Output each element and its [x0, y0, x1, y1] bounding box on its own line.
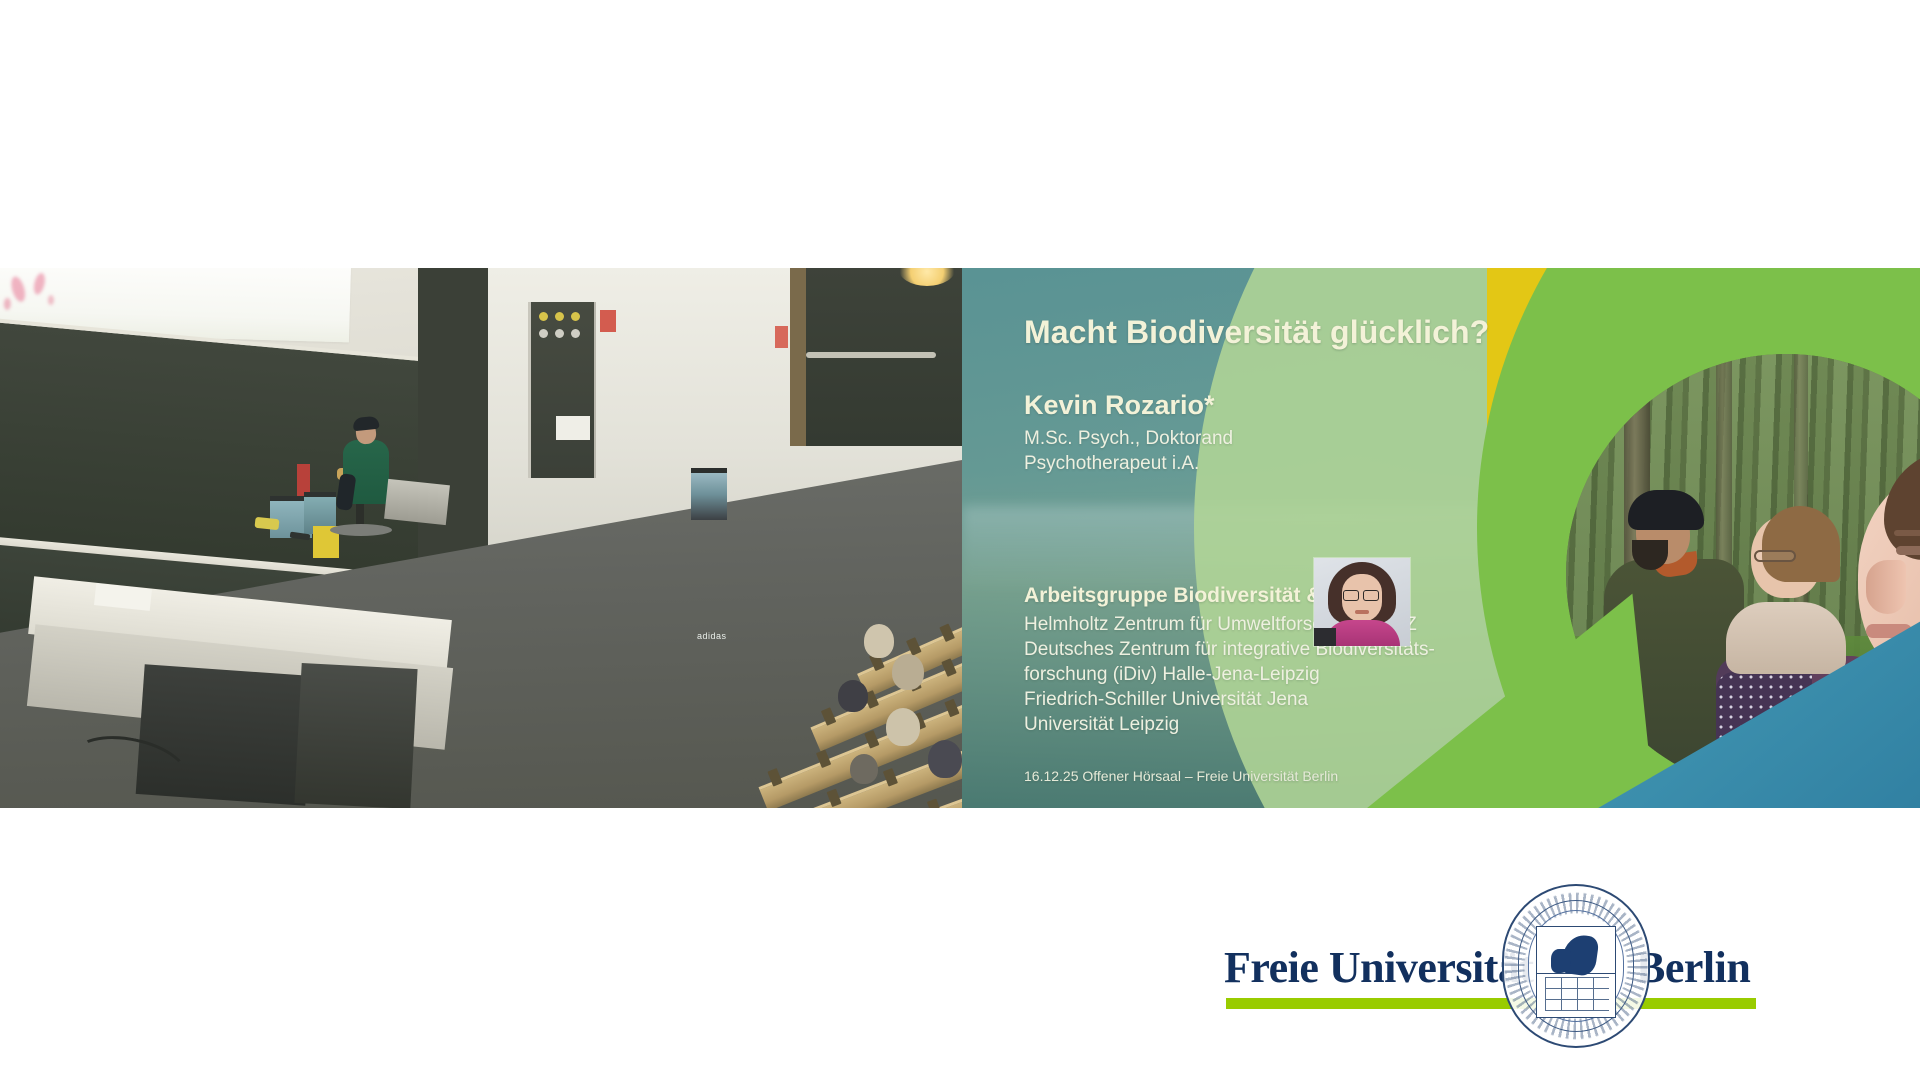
seal-shield [1536, 926, 1616, 1018]
screen-content-blob [48, 295, 54, 305]
presentation-slide[interactable]: Macht Biodiversität glücklich? Kevin Roz… [962, 268, 1920, 808]
desk-sponge [254, 517, 279, 530]
audience-member [864, 624, 894, 658]
slide-title: Macht Biodiversität glücklich? [1024, 314, 1489, 351]
co-author-portrait [1314, 558, 1410, 646]
affiliation-line: forschung (iDiv) Halle-Jena-Leipzig [1024, 662, 1444, 687]
door-notice-sign [556, 416, 590, 440]
speaker-role-line-2: Psychotherapeut i.A. [1024, 451, 1233, 476]
portrait-shoulder [1314, 628, 1336, 646]
logo-accent-bar [1226, 998, 1756, 1009]
seal-shield-pattern [1545, 977, 1609, 1011]
emergency-sign [775, 326, 788, 348]
logo-word-berlin: Berlin [1636, 942, 1750, 993]
audience-member [886, 708, 920, 746]
speaker-role: M.Sc. Psych., Doktorand Psychotherapeut … [1024, 426, 1233, 476]
slide-text-layer: Macht Biodiversität glücklich? Kevin Roz… [962, 268, 1920, 808]
seal-shield-upper [1537, 927, 1615, 974]
waste-bin [691, 468, 727, 520]
lecture-hall-video[interactable]: adidas [0, 268, 962, 808]
speaker-role-line-1: M.Sc. Psych., Doktorand [1024, 426, 1233, 451]
affiliation-line: Friedrich-Schiller Universität Jena [1024, 687, 1444, 712]
slide-footer-date: 16.12.25 Offener Hörsaal – Freie Univers… [1024, 768, 1338, 784]
audience-member [838, 680, 868, 712]
audience-member [850, 754, 878, 784]
seat-row [648, 797, 962, 808]
screen-content-blob [32, 272, 47, 296]
portrait-glasses-right [1363, 590, 1379, 601]
screen-content-blob [9, 275, 28, 303]
door-push-bar [806, 352, 936, 358]
av-equipment-rack [294, 663, 417, 808]
speaker-cap [352, 416, 379, 432]
screen-content-blob [4, 298, 11, 310]
fire-extinguisher-sign [600, 310, 616, 332]
portrait-glasses-left [1343, 590, 1359, 601]
audience-seating [642, 558, 962, 808]
door-control-buttons [537, 312, 589, 354]
portrait-mouth [1355, 610, 1369, 614]
speaker-name: Kevin Rozario* [1024, 390, 1215, 421]
university-seal-icon [1502, 884, 1650, 1048]
content-band: adidas [0, 268, 1920, 808]
stool-base [330, 524, 392, 536]
audience-member [892, 654, 924, 690]
audience-member [928, 740, 962, 778]
freie-universitaet-berlin-logo: Freie Universität Berlin [1224, 880, 1764, 1050]
logo-word-freie-universitaet: Freie Universität [1224, 942, 1534, 993]
affiliation-line: Universität Leipzig [1024, 712, 1444, 737]
confidence-monitor [384, 479, 450, 525]
page-root: adidas [0, 0, 1920, 1080]
seal-bear-icon-part [1551, 949, 1571, 973]
